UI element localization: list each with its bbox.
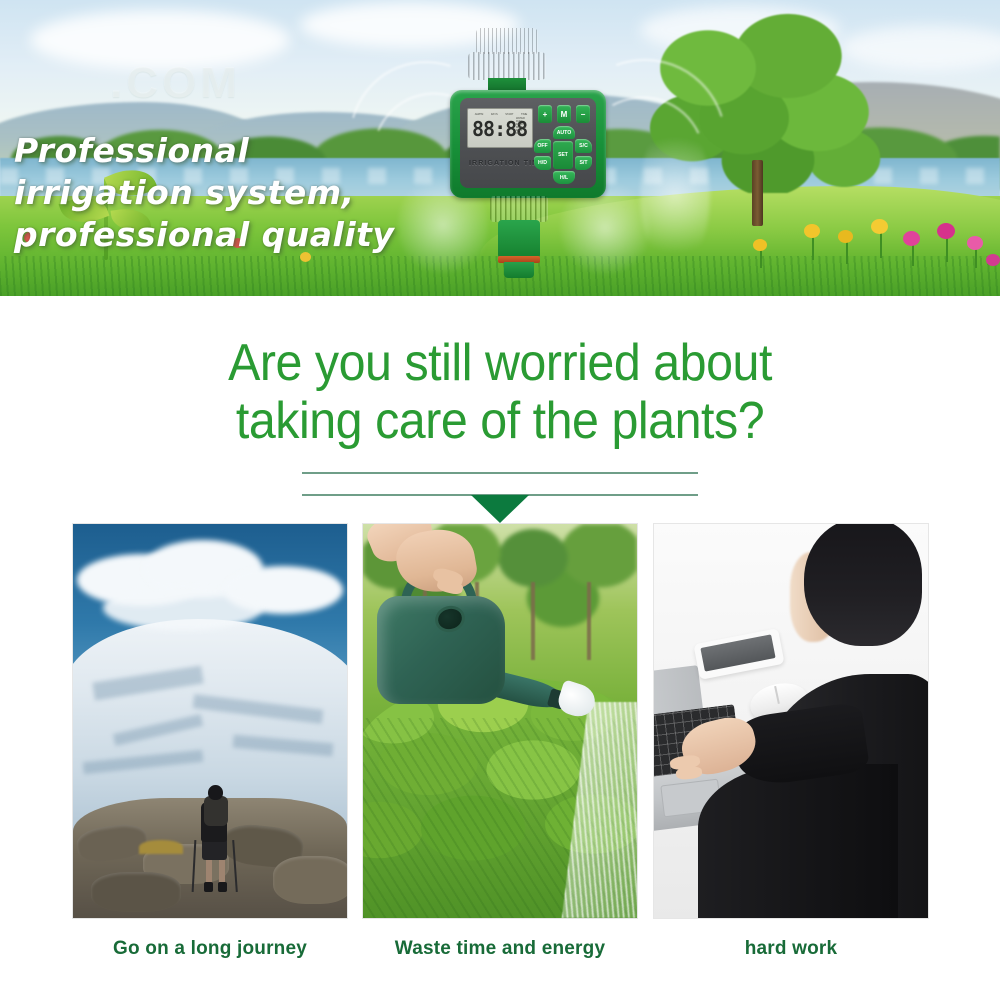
tree-trunk bbox=[587, 582, 591, 660]
person-head bbox=[804, 524, 922, 646]
outlet-body bbox=[498, 220, 540, 258]
person-shoulder bbox=[698, 764, 898, 918]
irrigation-timer-device: AM/PM DAYS START TIME 88:88 WATER RUN DE… bbox=[448, 28, 608, 296]
minus-button[interactable]: − bbox=[576, 105, 590, 123]
inlet-nut bbox=[476, 28, 538, 54]
section-headline: Are you still worried about taking care … bbox=[0, 334, 1000, 450]
headline-line1: Are you still worried about bbox=[35, 334, 965, 392]
caption-watering: Waste time and energy bbox=[363, 938, 637, 960]
dial-sc[interactable]: S/C bbox=[575, 139, 592, 153]
photo-panel-row bbox=[0, 524, 1000, 920]
rock bbox=[91, 872, 181, 912]
photo-panel-hard-work bbox=[654, 524, 928, 918]
hero-headline-line2: irrigation system, bbox=[14, 172, 394, 214]
water-mist bbox=[640, 120, 710, 270]
lcd-side-indicators: WATER RUN DELAY MANUAL RAIN OFF bbox=[516, 118, 530, 136]
caption-hard-work: hard work bbox=[654, 938, 928, 960]
outlet-tip bbox=[504, 262, 534, 278]
hiker-head bbox=[208, 785, 223, 800]
hiker-boot bbox=[204, 882, 213, 892]
hero-headline-line3: professional quality bbox=[14, 214, 394, 256]
lcd-indicator: START bbox=[505, 114, 513, 117]
hero-banner: .COM Professional irrigation system, pro… bbox=[0, 0, 1000, 296]
lcd-display: AM/PM DAYS START TIME 88:88 WATER RUN DE… bbox=[467, 108, 533, 148]
dry-grass-tuft bbox=[139, 840, 183, 854]
photo-panel-watering bbox=[363, 524, 637, 918]
divider-rule-top bbox=[302, 472, 698, 474]
caption-journey: Go on a long journey bbox=[73, 938, 347, 960]
dial-auto[interactable]: AUTO bbox=[553, 126, 575, 139]
headline-line2: taking care of the plants? bbox=[35, 392, 965, 450]
hiker-boot bbox=[218, 882, 227, 892]
lcd-indicator: AM/PM bbox=[475, 114, 484, 117]
tree-trunk bbox=[531, 582, 535, 660]
section-divider bbox=[0, 468, 1000, 512]
down-arrow-icon bbox=[471, 495, 529, 523]
outlet-collar bbox=[490, 196, 548, 222]
dial-set-button[interactable]: SET bbox=[553, 141, 573, 169]
mode-dial: AUTO S/C S/T H/L H/D OFF SET bbox=[534, 126, 592, 184]
dial-hl[interactable]: H/L bbox=[553, 171, 575, 184]
hiker-leg bbox=[219, 858, 225, 884]
dial-hd[interactable]: H/D bbox=[534, 156, 551, 170]
hiker-leg bbox=[206, 858, 212, 884]
button-row: + M − bbox=[538, 105, 590, 123]
hiker-backpack bbox=[204, 796, 228, 826]
site-watermark: .COM bbox=[110, 58, 241, 108]
mode-button[interactable]: M bbox=[557, 105, 571, 123]
dial-st[interactable]: S/T bbox=[575, 156, 592, 170]
lcd-indicator: TIME bbox=[521, 114, 527, 117]
photo-panel-journey bbox=[73, 524, 347, 918]
lcd-indicator: DAYS bbox=[491, 114, 498, 117]
inlet-collar bbox=[468, 52, 546, 80]
lcd-indicator: OFF bbox=[516, 133, 530, 136]
plus-button[interactable]: + bbox=[538, 105, 552, 123]
cloud bbox=[103, 586, 263, 630]
hero-headline: Professional irrigation system, professi… bbox=[14, 130, 394, 257]
control-panel: AM/PM DAYS START TIME 88:88 WATER RUN DE… bbox=[460, 98, 596, 188]
hero-headline-line1: Professional bbox=[14, 130, 394, 172]
device-body: AM/PM DAYS START TIME 88:88 WATER RUN DE… bbox=[450, 90, 606, 198]
rock bbox=[273, 856, 347, 904]
dial-off[interactable]: OFF bbox=[534, 139, 551, 153]
